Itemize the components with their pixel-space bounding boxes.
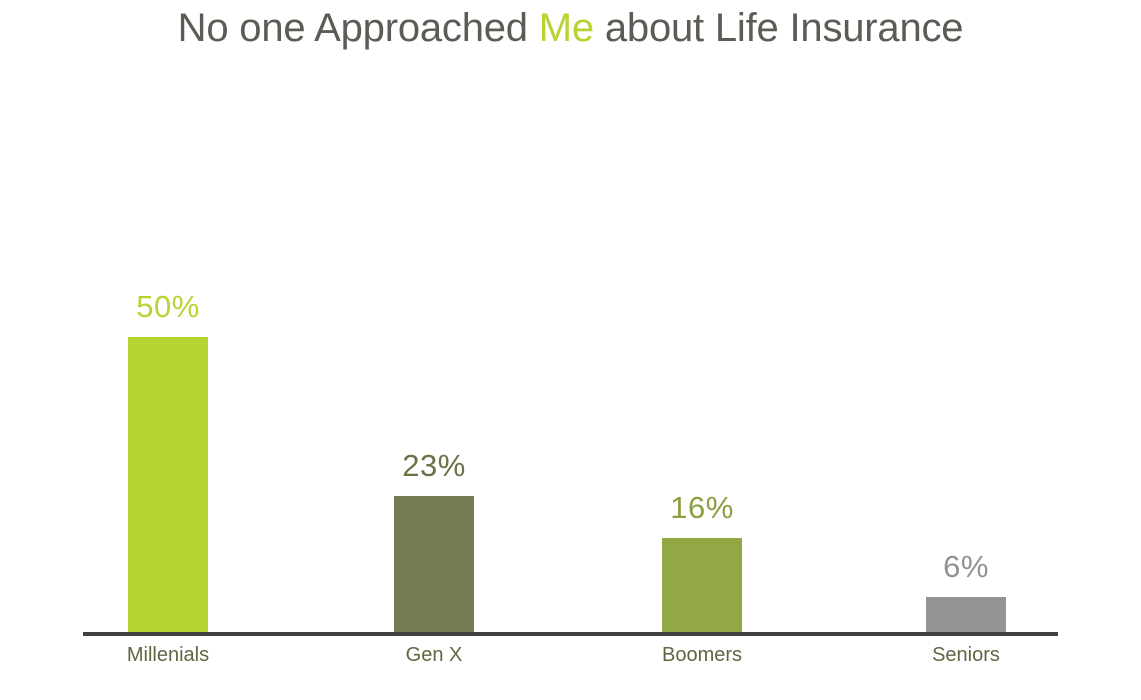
- chart-title-after: about Life Insurance: [594, 6, 963, 50]
- bar-value-seniors: 6%: [846, 549, 1086, 585]
- x-axis-baseline: [83, 632, 1058, 636]
- chart-title: No one Approached Me about Life Insuranc…: [0, 0, 1141, 60]
- bar-seniors[interactable]: [926, 597, 1006, 632]
- bar-wrap: 23%: [314, 172, 554, 632]
- bar-millenials[interactable]: [128, 337, 208, 632]
- bar-boomers[interactable]: [662, 538, 742, 632]
- bar-gen-x[interactable]: [394, 496, 474, 632]
- bar-wrap: 50%: [48, 172, 288, 632]
- bar-value-gen-x: 23%: [314, 448, 554, 484]
- chart-title-accent: Me: [539, 6, 594, 50]
- category-label-seniors: Seniors: [846, 644, 1086, 667]
- bar-group-millenials: 50%: [48, 172, 288, 632]
- category-label-gen-x: Gen X: [314, 644, 554, 667]
- bar-value-millenials: 50%: [48, 289, 288, 325]
- chart-plot-area: 50% 23% 16% 6% Millenials Gen X Boomers …: [0, 60, 1141, 700]
- chart-title-before: No one Approached: [178, 6, 539, 50]
- bar-wrap: 16%: [582, 172, 822, 632]
- bar-value-boomers: 16%: [582, 490, 822, 526]
- bar-wrap: 6%: [846, 172, 1086, 632]
- category-label-boomers: Boomers: [582, 644, 822, 667]
- bar-group-seniors: 6%: [846, 172, 1086, 632]
- bar-group-boomers: 16%: [582, 172, 822, 632]
- bar-group-gen-x: 23%: [314, 172, 554, 632]
- category-label-millenials: Millenials: [48, 644, 288, 667]
